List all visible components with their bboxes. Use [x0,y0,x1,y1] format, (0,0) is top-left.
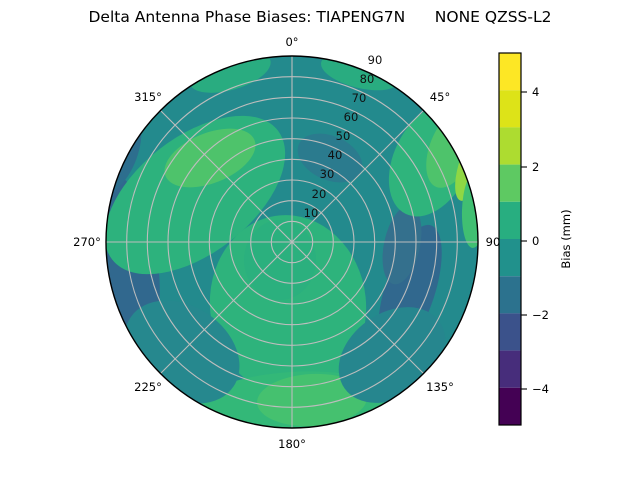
radial-tick-40: 40 [328,148,343,162]
radial-tick-80: 80 [360,72,375,86]
radial-tick-30: 30 [320,167,335,181]
angular-tick-90: 90 [486,235,501,249]
colorbar-axis-label: Bias (mm) [559,209,573,268]
angular-tick-180: 180° [278,437,306,451]
colorbar-tick-label-0: 0 [532,234,539,248]
angular-tick-225: 225° [134,380,162,394]
radial-tick-60: 60 [344,110,359,124]
angular-tick-270: 270° [73,235,101,249]
radial-tick-90: 90 [368,53,383,67]
angular-tick-45: 45° [430,90,450,104]
radial-tick-50: 50 [336,129,351,143]
radial-tick-20: 20 [312,187,327,201]
colorbar-tick-label-4: 4 [532,85,539,99]
polar-axes: 0° 45° 90 135° 180° 225° 270° 315° 10 20… [0,0,640,480]
angular-tick-315: 315° [134,90,162,104]
colorbar-tick-label-neg2: −2 [532,308,549,322]
angular-tick-135: 135° [426,380,454,394]
radial-tick-10: 10 [304,206,319,220]
contour-fill-group [65,43,492,476]
figure-canvas: Delta Antenna Phase Biases: TIAPENG7N NO… [0,0,640,480]
colorbar-tick-label-neg4: −4 [532,382,549,396]
colorbar-tick-label-2: 2 [532,160,539,174]
polar-grid [106,56,478,428]
angular-tick-0: 0° [285,35,298,49]
radial-tick-70: 70 [352,91,367,105]
